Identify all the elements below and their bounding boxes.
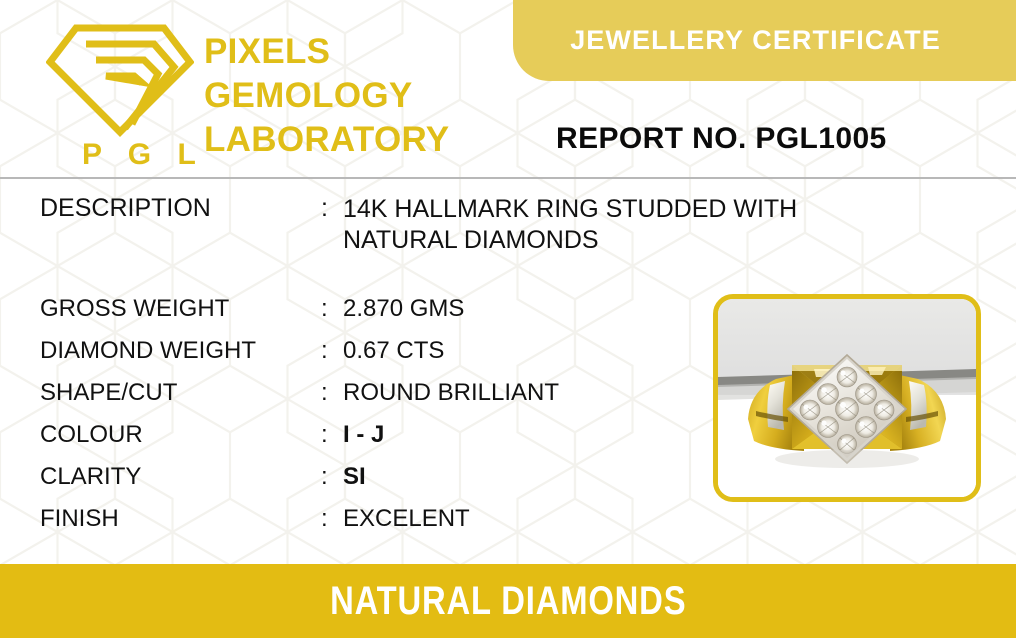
spec-value: ROUND BRILLIANT — [343, 379, 559, 407]
specification-table: GROSS WEIGHT : 2.870 GMS DIAMOND WEIGHT … — [40, 295, 680, 547]
logo-line-2: GEMOLOGY — [204, 74, 449, 118]
natural-diamonds-footer: NATURAL DIAMONDS — [0, 564, 1016, 638]
logo-monogram: P G L — [82, 138, 205, 172]
logo-line-3: LABORATORY — [204, 118, 449, 162]
description-value-line-2: NATURAL DIAMONDS — [343, 226, 599, 254]
spec-row-diamond-weight: DIAMOND WEIGHT : 0.67 CTS — [40, 337, 680, 379]
spec-label: SHAPE/CUT — [40, 379, 177, 407]
jewellery-certificate: JEWELLERY CERTIFICATE REPORT NO. PGL1005… — [0, 0, 1016, 638]
spec-value: 2.870 GMS — [343, 295, 464, 323]
spec-colon: : — [321, 505, 328, 533]
jewellery-certificate-banner: JEWELLERY CERTIFICATE — [513, 0, 1016, 81]
description-value-line-1: 14K HALLMARK RING STUDDED WITH — [343, 195, 797, 223]
description-colon: : — [321, 194, 328, 223]
spec-row-gross-weight: GROSS WEIGHT : 2.870 GMS — [40, 295, 680, 337]
spec-label: DIAMOND WEIGHT — [40, 337, 256, 365]
spec-colon: : — [321, 337, 328, 365]
laboratory-logo: P G L PIXELS GEMOLOGY LABORATORY — [46, 20, 506, 170]
spec-row-clarity: CLARITY : SI — [40, 463, 680, 505]
spec-value: 0.67 CTS — [343, 337, 444, 365]
report-number: REPORT NO. PGL1005 — [556, 122, 887, 156]
spec-colon: : — [321, 379, 328, 407]
header-divider — [0, 177, 1016, 179]
spec-colon: : — [321, 463, 328, 491]
spec-row-colour: COLOUR : I - J — [40, 421, 680, 463]
spec-label: CLARITY — [40, 463, 141, 491]
ring-photo-frame — [713, 294, 981, 502]
nested-diamond-logo-icon — [46, 20, 194, 140]
logo-line-1: PIXELS — [204, 30, 449, 74]
description-label: DESCRIPTION — [40, 194, 211, 223]
logo-wordmark: PIXELS GEMOLOGY LABORATORY — [204, 30, 449, 162]
certificate-header: JEWELLERY CERTIFICATE REPORT NO. PGL1005… — [0, 0, 1016, 178]
spec-value: SI — [343, 463, 366, 491]
spec-label: GROSS WEIGHT — [40, 295, 229, 323]
description-value: 14K HALLMARK RING STUDDED WITH NATURAL D… — [343, 194, 797, 256]
spec-label: COLOUR — [40, 421, 143, 449]
spec-value: I - J — [343, 421, 384, 449]
footer-text: NATURAL DIAMONDS — [330, 579, 686, 624]
spec-row-finish: FINISH : EXCELENT — [40, 505, 680, 547]
spec-colon: : — [321, 295, 328, 323]
banner-title: JEWELLERY CERTIFICATE — [570, 25, 959, 56]
spec-colon: : — [321, 421, 328, 449]
spec-row-shape-cut: SHAPE/CUT : ROUND BRILLIANT — [40, 379, 680, 421]
spec-label: FINISH — [40, 505, 119, 533]
spec-value: EXCELENT — [343, 505, 470, 533]
ring-photograph — [718, 299, 976, 497]
